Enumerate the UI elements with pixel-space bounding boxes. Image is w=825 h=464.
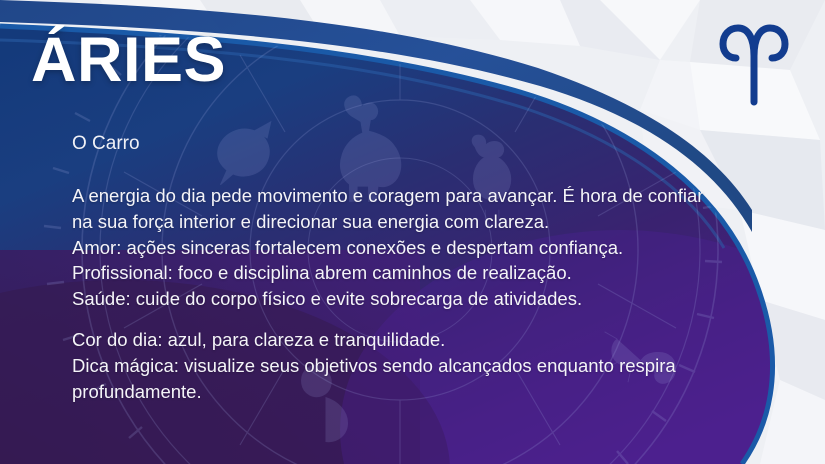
tarot-card-label: O Carro [72,134,140,153]
reading-text-2: Cor do dia: azul, para clareza e tranqui… [72,327,722,404]
reading-paragraph-1: A energia do dia pede movimento e corage… [72,183,722,312]
horoscope-card: ÁRIES O Carro A energia do dia pede movi… [0,0,825,464]
page-title: ÁRIES [31,29,226,92]
reading-text-1: A energia do dia pede movimento e corage… [72,183,722,312]
reading-paragraph-2: Cor do dia: azul, para clareza e tranqui… [72,327,722,404]
card-content: ÁRIES O Carro A energia do dia pede movi… [0,0,825,464]
aries-glyph-icon [710,16,798,108]
